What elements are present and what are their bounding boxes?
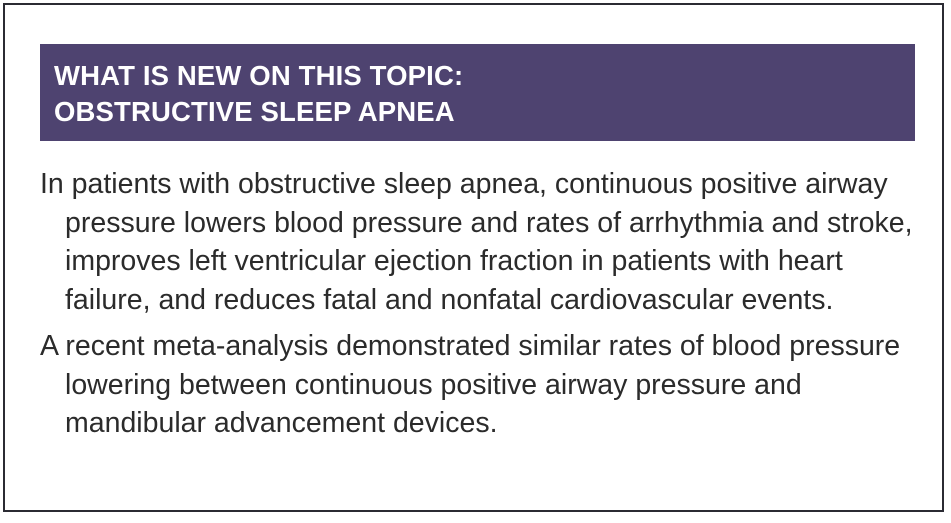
callout-paragraph-2: A recent meta-analysis demonstrated simi… bbox=[40, 327, 925, 443]
callout-header-bar: WHAT IS NEW ON THIS TOPIC: OBSTRUCTIVE S… bbox=[40, 44, 915, 141]
callout-paragraph-1: In patients with obstructive sleep apnea… bbox=[40, 165, 925, 319]
callout-header-line-2: OBSTRUCTIVE SLEEP APNEA bbox=[54, 94, 901, 130]
callout-header-line-1: WHAT IS NEW ON THIS TOPIC: bbox=[54, 58, 901, 94]
callout-panel: WHAT IS NEW ON THIS TOPIC: OBSTRUCTIVE S… bbox=[3, 3, 944, 512]
callout-body: In patients with obstructive sleep apnea… bbox=[40, 165, 925, 443]
